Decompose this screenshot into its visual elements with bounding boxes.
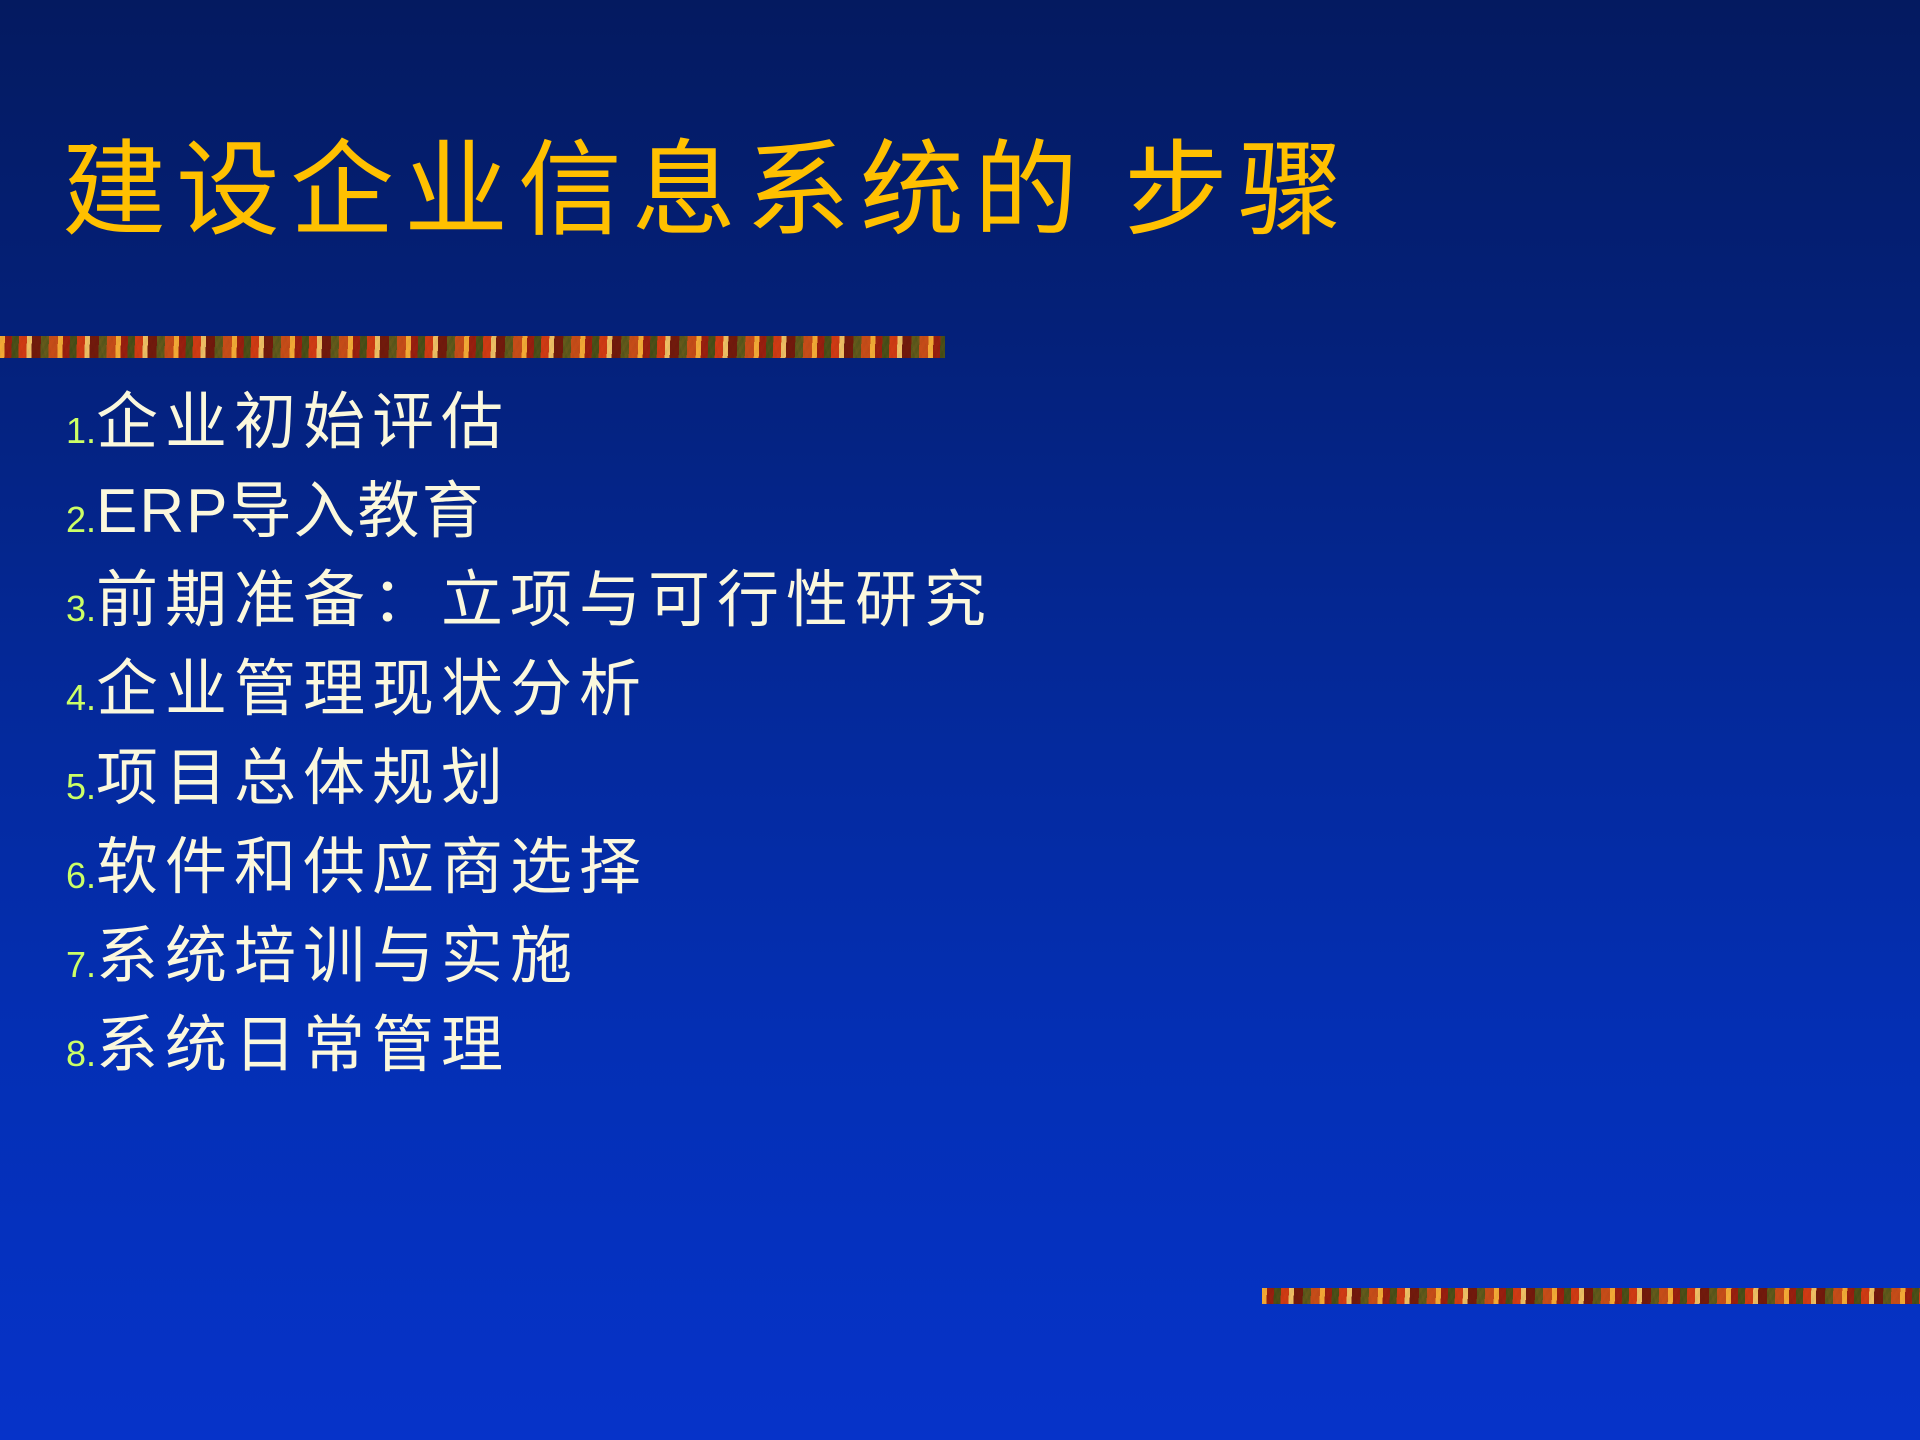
- list-item: 7. 系统培训与实施: [0, 926, 1720, 1015]
- list-item-label: 系统日常管理: [96, 1015, 1720, 1077]
- list-item-number: 2.: [0, 499, 96, 541]
- list-item-label: ERP导入教育: [96, 481, 1720, 543]
- presentation-slide: 建设企业信息系统的 步骤 1. 企业初始评估 2. ERP导入教育 3. 前期准…: [0, 0, 1920, 1440]
- footer-decoration: [1262, 1288, 1920, 1304]
- list-item-label: 前期准备：立项与可行性研究: [96, 570, 1720, 632]
- list-item-label: 软件和供应商选择: [96, 837, 1720, 899]
- list-item-number: 1.: [0, 410, 96, 452]
- list-item: 6. 软件和供应商选择: [0, 837, 1720, 926]
- slide-title-block: 建设企业信息系统的 步骤: [0, 112, 1280, 272]
- list-item-number: 7.: [0, 944, 96, 986]
- list-item-number: 4.: [0, 677, 96, 719]
- list-item-label: 企业管理现状分析: [96, 659, 1720, 721]
- list-item: 8. 系统日常管理: [0, 1015, 1720, 1104]
- list-item: 5. 项目总体规划: [0, 748, 1720, 837]
- list-item-number: 8.: [0, 1033, 96, 1075]
- list-item-label: 系统培训与实施: [96, 926, 1720, 988]
- title-divider-decoration: [0, 336, 945, 358]
- steps-list: 1. 企业初始评估 2. ERP导入教育 3. 前期准备：立项与可行性研究 4.…: [0, 392, 1720, 1104]
- list-item-number: 3.: [0, 588, 96, 630]
- list-item-number: 6.: [0, 855, 96, 897]
- list-item-number: 5.: [0, 766, 96, 808]
- page-title: 建设企业信息系统的 步骤: [0, 131, 1352, 254]
- list-item: 1. 企业初始评估: [0, 392, 1720, 481]
- list-item: 4. 企业管理现状分析: [0, 659, 1720, 748]
- list-item: 3. 前期准备：立项与可行性研究: [0, 570, 1720, 659]
- list-item-label: 企业初始评估: [96, 392, 1720, 454]
- list-item: 2. ERP导入教育: [0, 481, 1720, 570]
- list-item-label: 项目总体规划: [96, 748, 1720, 810]
